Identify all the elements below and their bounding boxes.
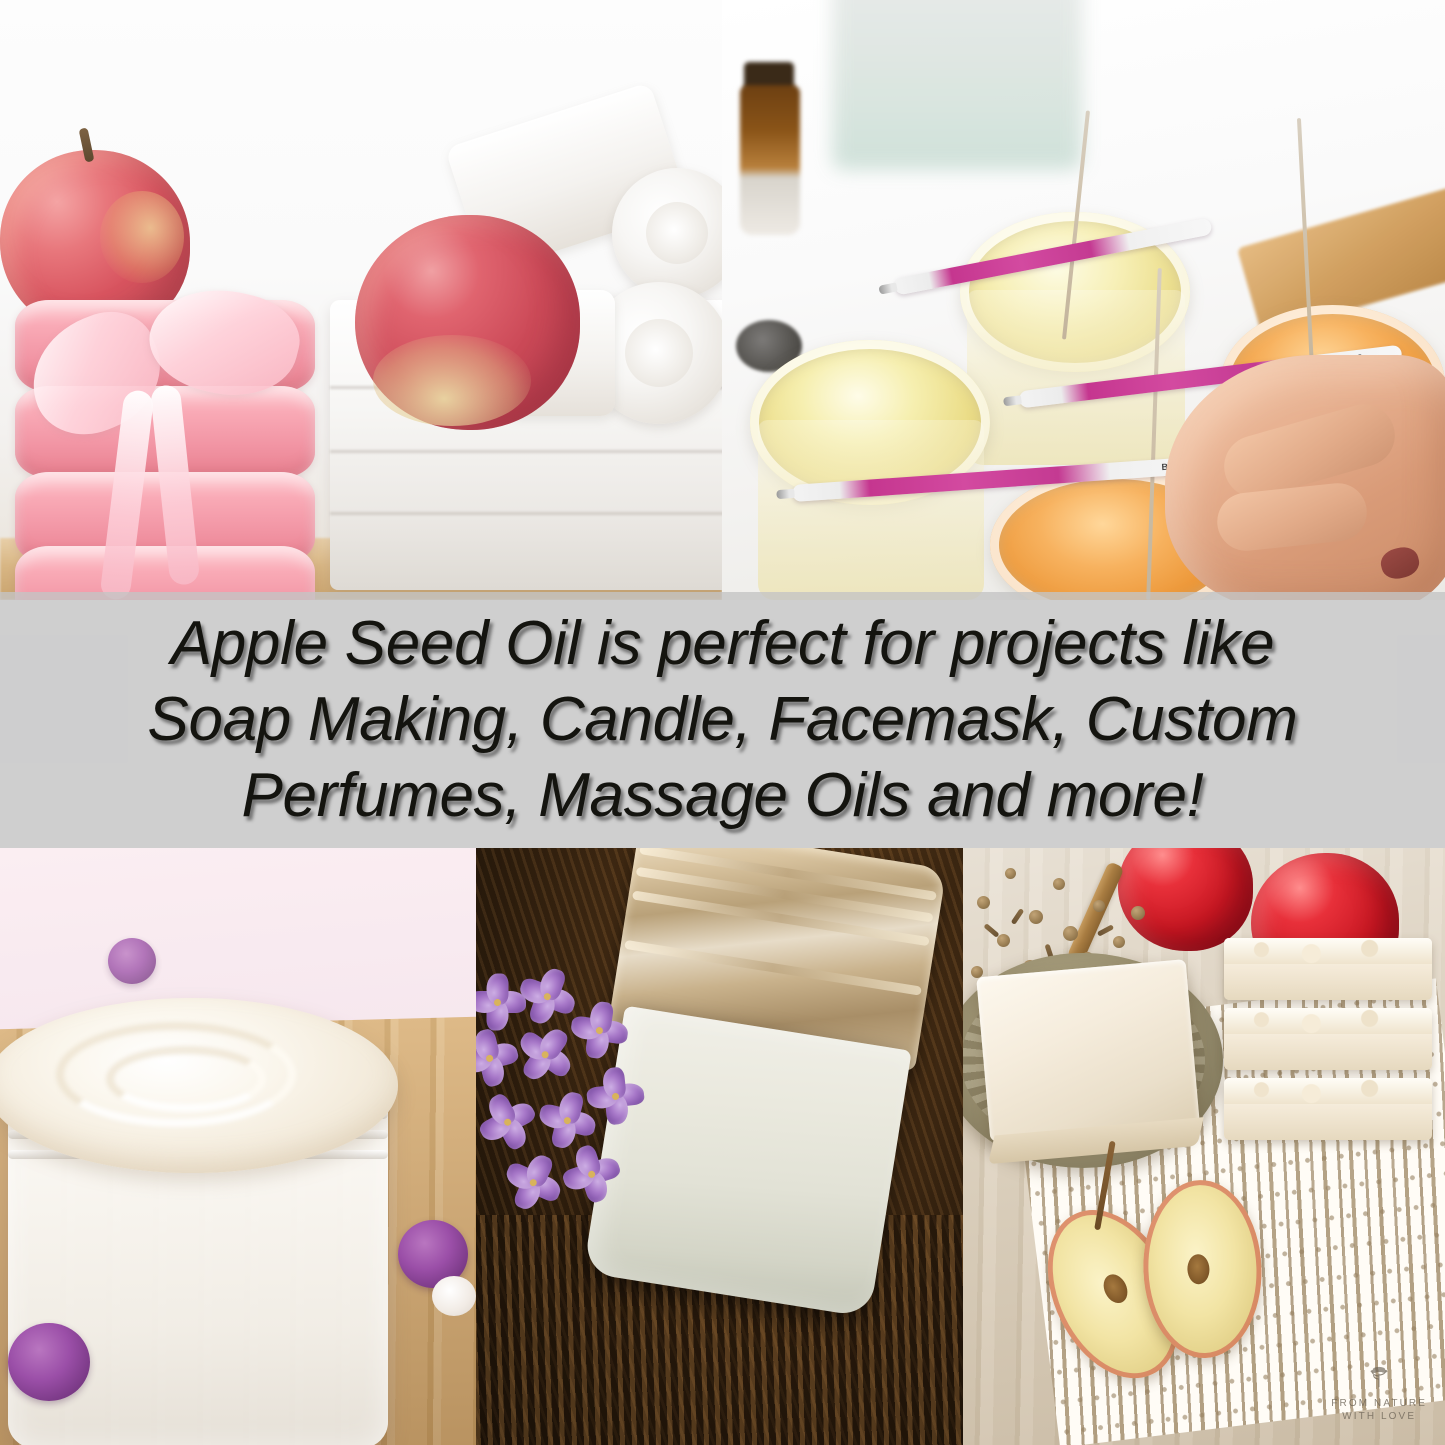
photo-whipped-body-butter-jar <box>0 848 476 1445</box>
brand-watermark: FROM NATURE WITH LOVE <box>1331 1363 1427 1423</box>
apple-front <box>355 215 580 430</box>
soap-bar <box>1224 1008 1432 1070</box>
allspice-berry <box>1131 906 1145 920</box>
tree-sprout-icon <box>1331 1363 1427 1393</box>
soap-bar-on-plate <box>976 959 1200 1142</box>
lilac-cluster <box>476 963 671 1238</box>
allspice-berry <box>1005 868 1016 879</box>
headline-line-3: Perfumes, Massage Oils and more! <box>0 758 1445 834</box>
lilac-floret <box>562 993 637 1068</box>
lilac-floret <box>579 1060 652 1133</box>
photo-candle-jar-lilacs <box>476 848 963 1445</box>
dried-flower-1 <box>8 1323 90 1401</box>
wax-jar-left-body <box>758 420 984 600</box>
allspice-berry <box>1053 878 1065 890</box>
watermark-line-1: FROM NATURE <box>1331 1398 1427 1409</box>
allspice-berry <box>1063 926 1078 941</box>
dried-flower-white <box>432 1276 476 1316</box>
allspice-berry <box>1029 910 1043 924</box>
allspice-berry <box>1113 936 1125 948</box>
headline-banner: Apple Seed Oil is perfect for projects l… <box>0 592 1445 848</box>
headline-line-1: Apple Seed Oil is perfect for projects l… <box>0 606 1445 682</box>
watermark-line-2: WITH LOVE <box>1342 1411 1416 1422</box>
photo-soap-bars-apples-towels <box>0 0 722 600</box>
photo-handmade-soap-apples-spices <box>963 848 1445 1445</box>
soap-bar <box>1224 938 1432 1000</box>
soap-bar-stack <box>1224 938 1439 1178</box>
blurred-bottle <box>832 0 1082 170</box>
allspice-berry <box>977 896 990 909</box>
headline-line-2: Soap Making, Candle, Facemask, Custom <box>0 682 1445 758</box>
soap-bar <box>1224 1078 1432 1140</box>
photo-candle-making-wax-jars: BIC BIC <box>722 0 1445 600</box>
essential-oil-bottle <box>740 85 800 235</box>
dried-flower-3 <box>108 938 156 984</box>
allspice-berry <box>997 934 1010 947</box>
allspice-berry <box>1093 900 1105 912</box>
whipped-butter <box>0 998 398 1173</box>
product-collage: BIC BIC <box>0 0 1445 1445</box>
